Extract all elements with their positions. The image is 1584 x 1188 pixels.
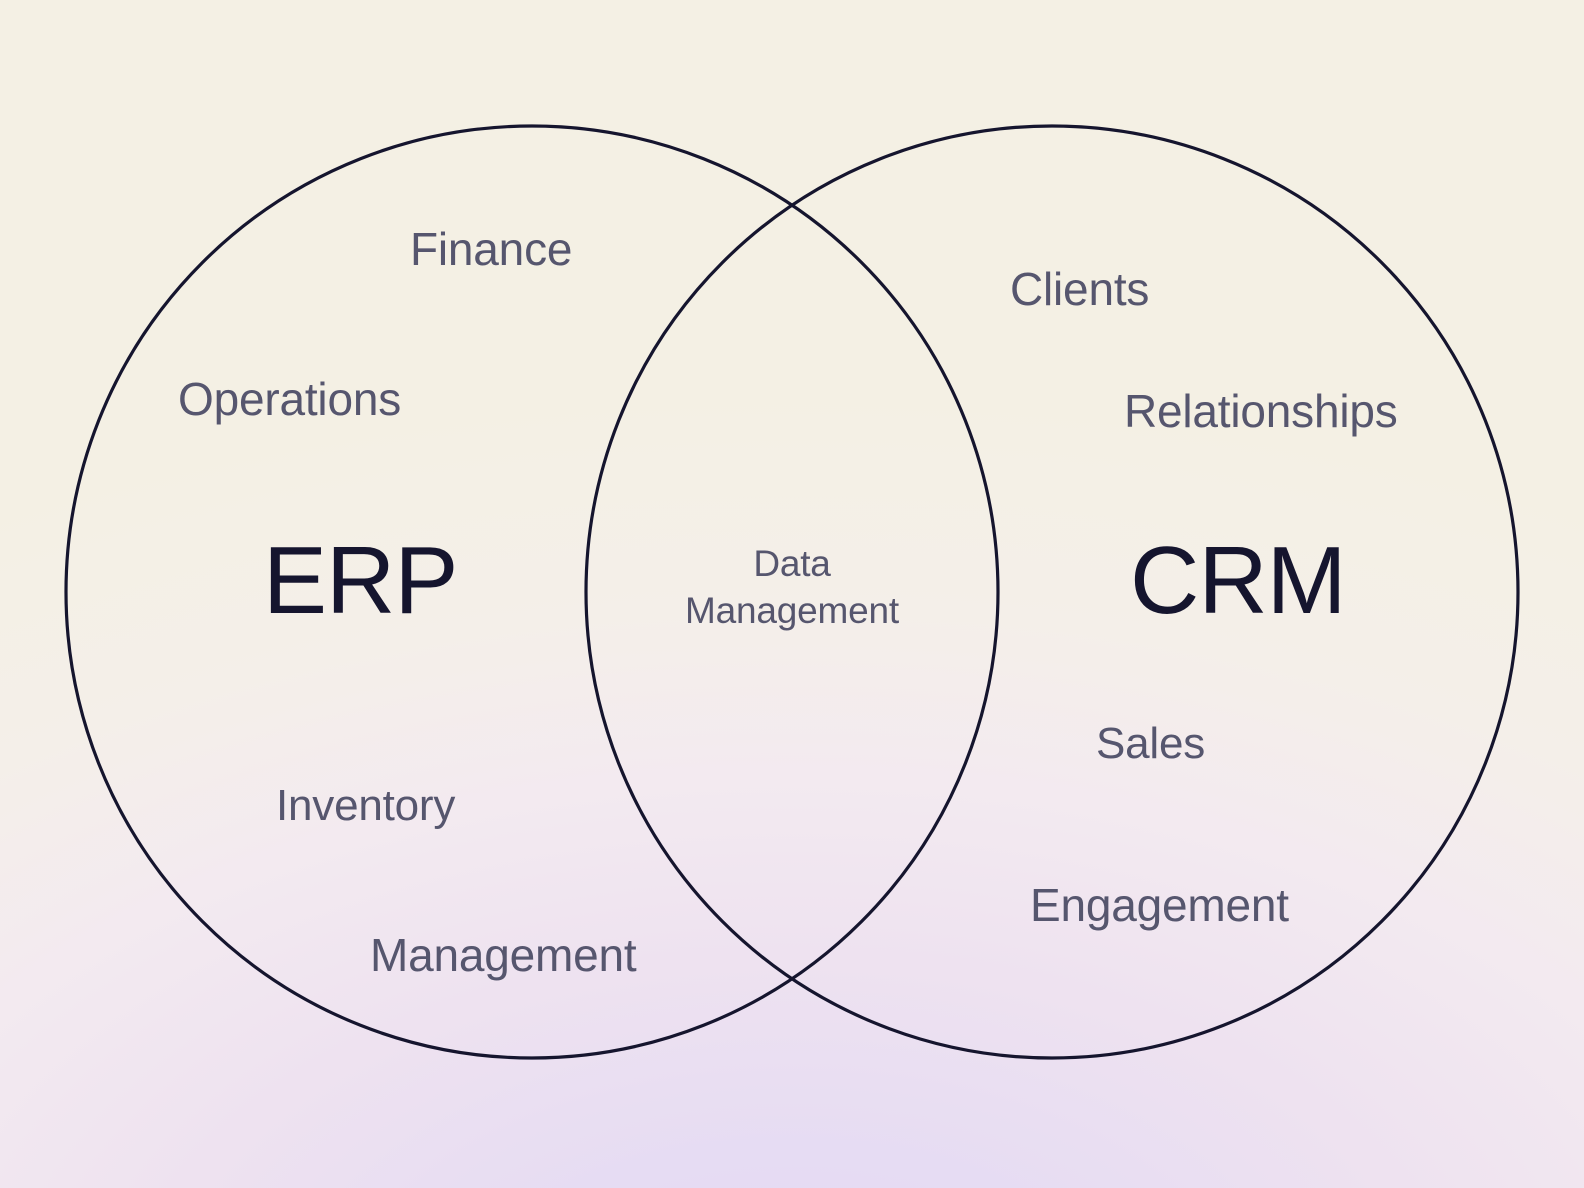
right-set-item-sales: Sales [1096, 718, 1205, 770]
intersection-label: Data Management [612, 540, 972, 635]
right-set-item-clients: Clients [1010, 262, 1149, 316]
left-set-title: ERP [263, 533, 457, 629]
right-set-item-relationships: Relationships [1124, 384, 1398, 438]
intersection-label-line-1: Data [612, 540, 972, 587]
right-set-item-engagement: Engagement [1030, 878, 1289, 932]
venn-diagram-canvas: Finance Operations ERP Inventory Managem… [0, 0, 1584, 1188]
left-set-item-finance: Finance [410, 222, 572, 276]
intersection-label-line-2: Management [612, 587, 972, 634]
left-set-item-operations: Operations [178, 372, 401, 426]
left-set-item-inventory: Inventory [276, 780, 455, 832]
left-set-item-management: Management [370, 928, 637, 982]
right-set-title: CRM [1130, 533, 1346, 629]
